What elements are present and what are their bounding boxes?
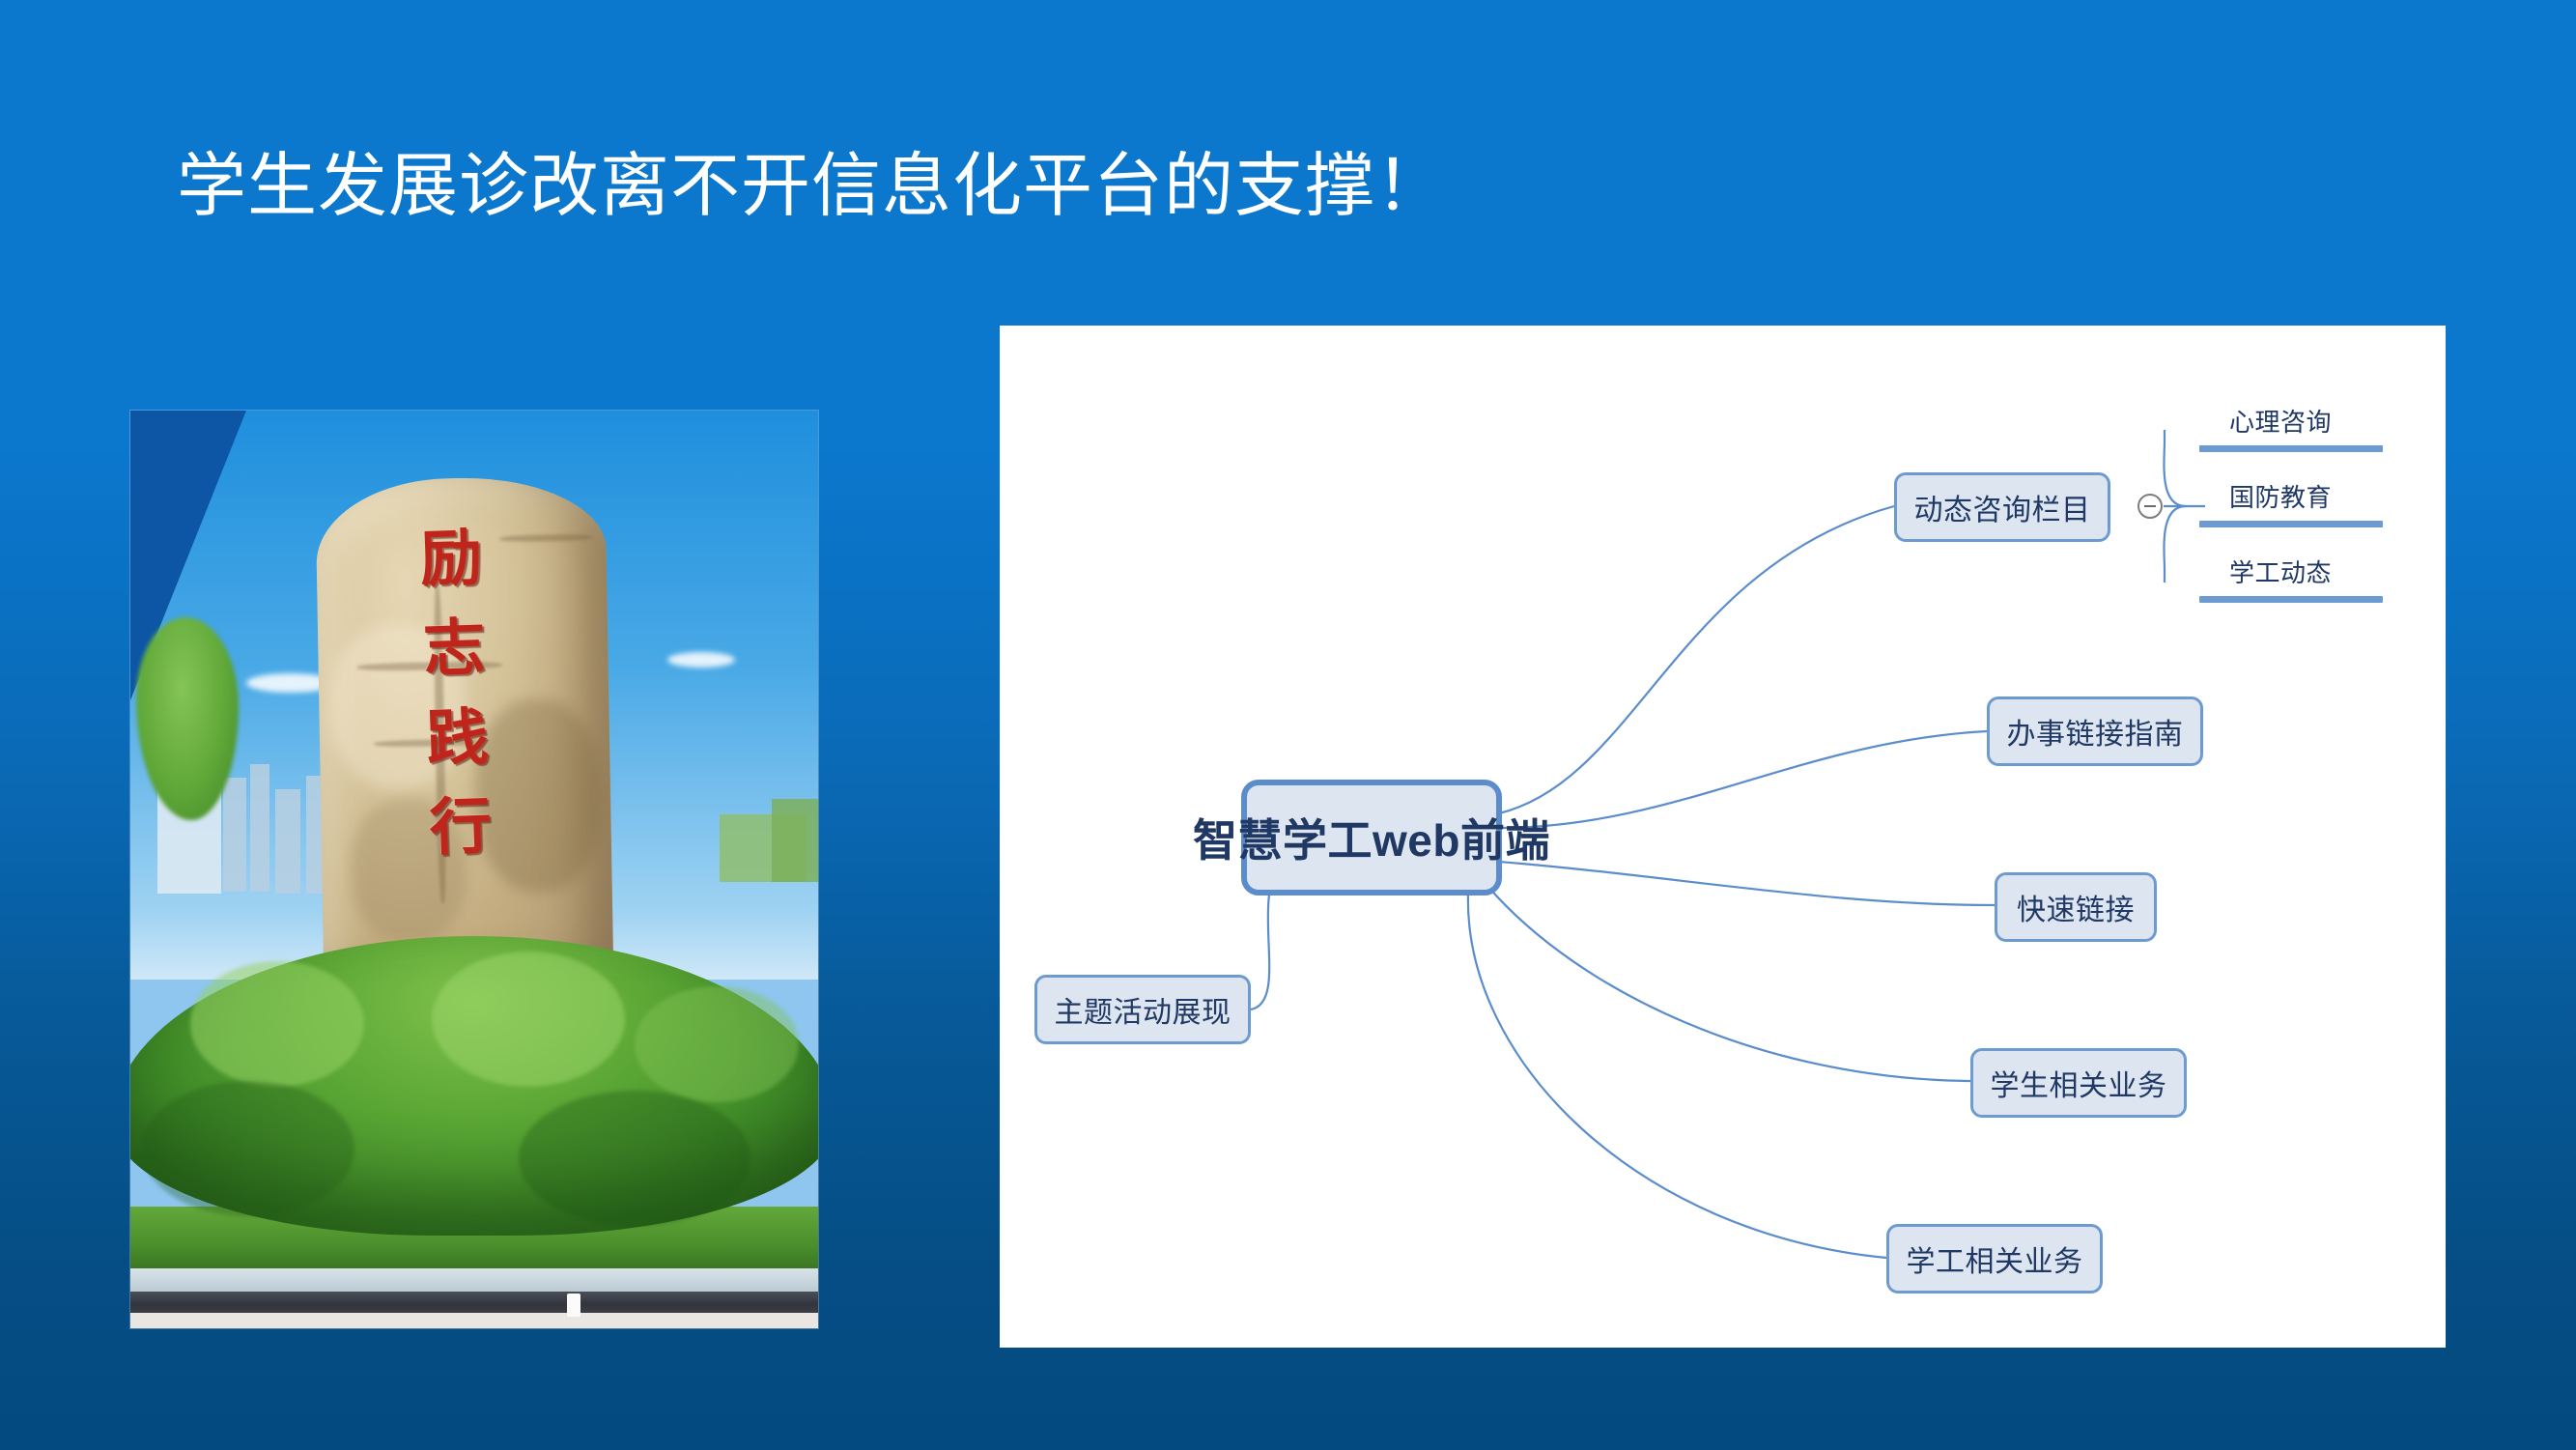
cloud-shape bbox=[667, 652, 735, 668]
mindmap-branch-node-affairs-services[interactable]: 学工相关业务 bbox=[1886, 1224, 2103, 1294]
photo-pavement-marker bbox=[567, 1294, 580, 1317]
mindmap-leaf-label: 心理咨询 bbox=[2229, 408, 2332, 437]
mindmap-leaf-node-student-affairs-news[interactable]: 学工动态 bbox=[2199, 554, 2362, 589]
shrub-highlight bbox=[635, 986, 799, 1102]
mindmap-leaf-node-defense-edu[interactable]: 国防教育 bbox=[2199, 478, 2362, 514]
leaf-underline-bar bbox=[2199, 521, 2383, 527]
mindmap-branch-label: 办事链接指南 bbox=[2007, 710, 2184, 753]
leaf-underline-bar bbox=[2199, 445, 2383, 452]
mindmap-branch-node-service-link-guide[interactable]: 办事链接指南 bbox=[1987, 697, 2203, 766]
photo-shrub bbox=[130, 936, 818, 1236]
monument-carved-text: 励志践行 bbox=[414, 514, 498, 875]
mindmap-root-label: 智慧学工web前端 bbox=[1193, 806, 1550, 869]
mindmap-leaf-label: 学工动态 bbox=[2229, 558, 2332, 587]
tree-line-shape bbox=[772, 799, 818, 882]
mindmap-branch-label: 动态咨询栏目 bbox=[1914, 486, 2091, 528]
minus-icon bbox=[2144, 505, 2156, 507]
photo-pavement-dark bbox=[130, 1292, 818, 1315]
mindmap-branch-node-theme-activities[interactable]: 主题活动展现 bbox=[1034, 975, 1251, 1044]
shrub-shadow bbox=[142, 1081, 354, 1216]
presentation-slide: 学生发展诊改离不开信息化平台的支撑！ 励志践行 bbox=[0, 0, 2576, 1450]
photo-curb bbox=[130, 1268, 818, 1294]
building-shape bbox=[275, 789, 300, 894]
mindmap-branch-node-dynamic-consult[interactable]: 动态咨询栏目 bbox=[1894, 472, 2110, 542]
mindmap-root-node[interactable]: 智慧学工web前端 bbox=[1241, 780, 1502, 896]
mindmap-panel: 智慧学工web前端 动态咨询栏目 心理咨询 国防教育 学工动态 办事链接指南 快… bbox=[1000, 326, 2446, 1348]
shrub-highlight bbox=[190, 961, 364, 1087]
mindmap-branch-label: 主题活动展现 bbox=[1055, 988, 1231, 1031]
building-shape bbox=[223, 778, 246, 892]
mindmap-branch-node-quick-links[interactable]: 快速链接 bbox=[1995, 872, 2157, 942]
stone-crack bbox=[499, 534, 592, 543]
mindmap-branch-label: 学生相关业务 bbox=[1991, 1062, 2167, 1104]
shrub-highlight bbox=[432, 952, 625, 1087]
leaf-underline-bar bbox=[2199, 596, 2383, 603]
building-shape bbox=[250, 764, 269, 892]
mindmap-branch-node-student-services[interactable]: 学生相关业务 bbox=[1970, 1048, 2187, 1118]
mindmap-branch-label: 快速链接 bbox=[2017, 886, 2135, 928]
slide-title: 学生发展诊改离不开信息化平台的支撑！ bbox=[177, 148, 1446, 226]
shrub-shadow bbox=[519, 1091, 750, 1226]
collapse-toggle-icon[interactable] bbox=[2137, 494, 2163, 519]
mindmap-leaf-label: 国防教育 bbox=[2229, 483, 2332, 512]
mindmap-branch-label: 学工相关业务 bbox=[1907, 1237, 2083, 1280]
campus-monument-photo: 励志践行 bbox=[130, 411, 818, 1328]
photo-pavement-light bbox=[130, 1313, 818, 1328]
mindmap-leaf-node-psych[interactable]: 心理咨询 bbox=[2199, 403, 2362, 439]
